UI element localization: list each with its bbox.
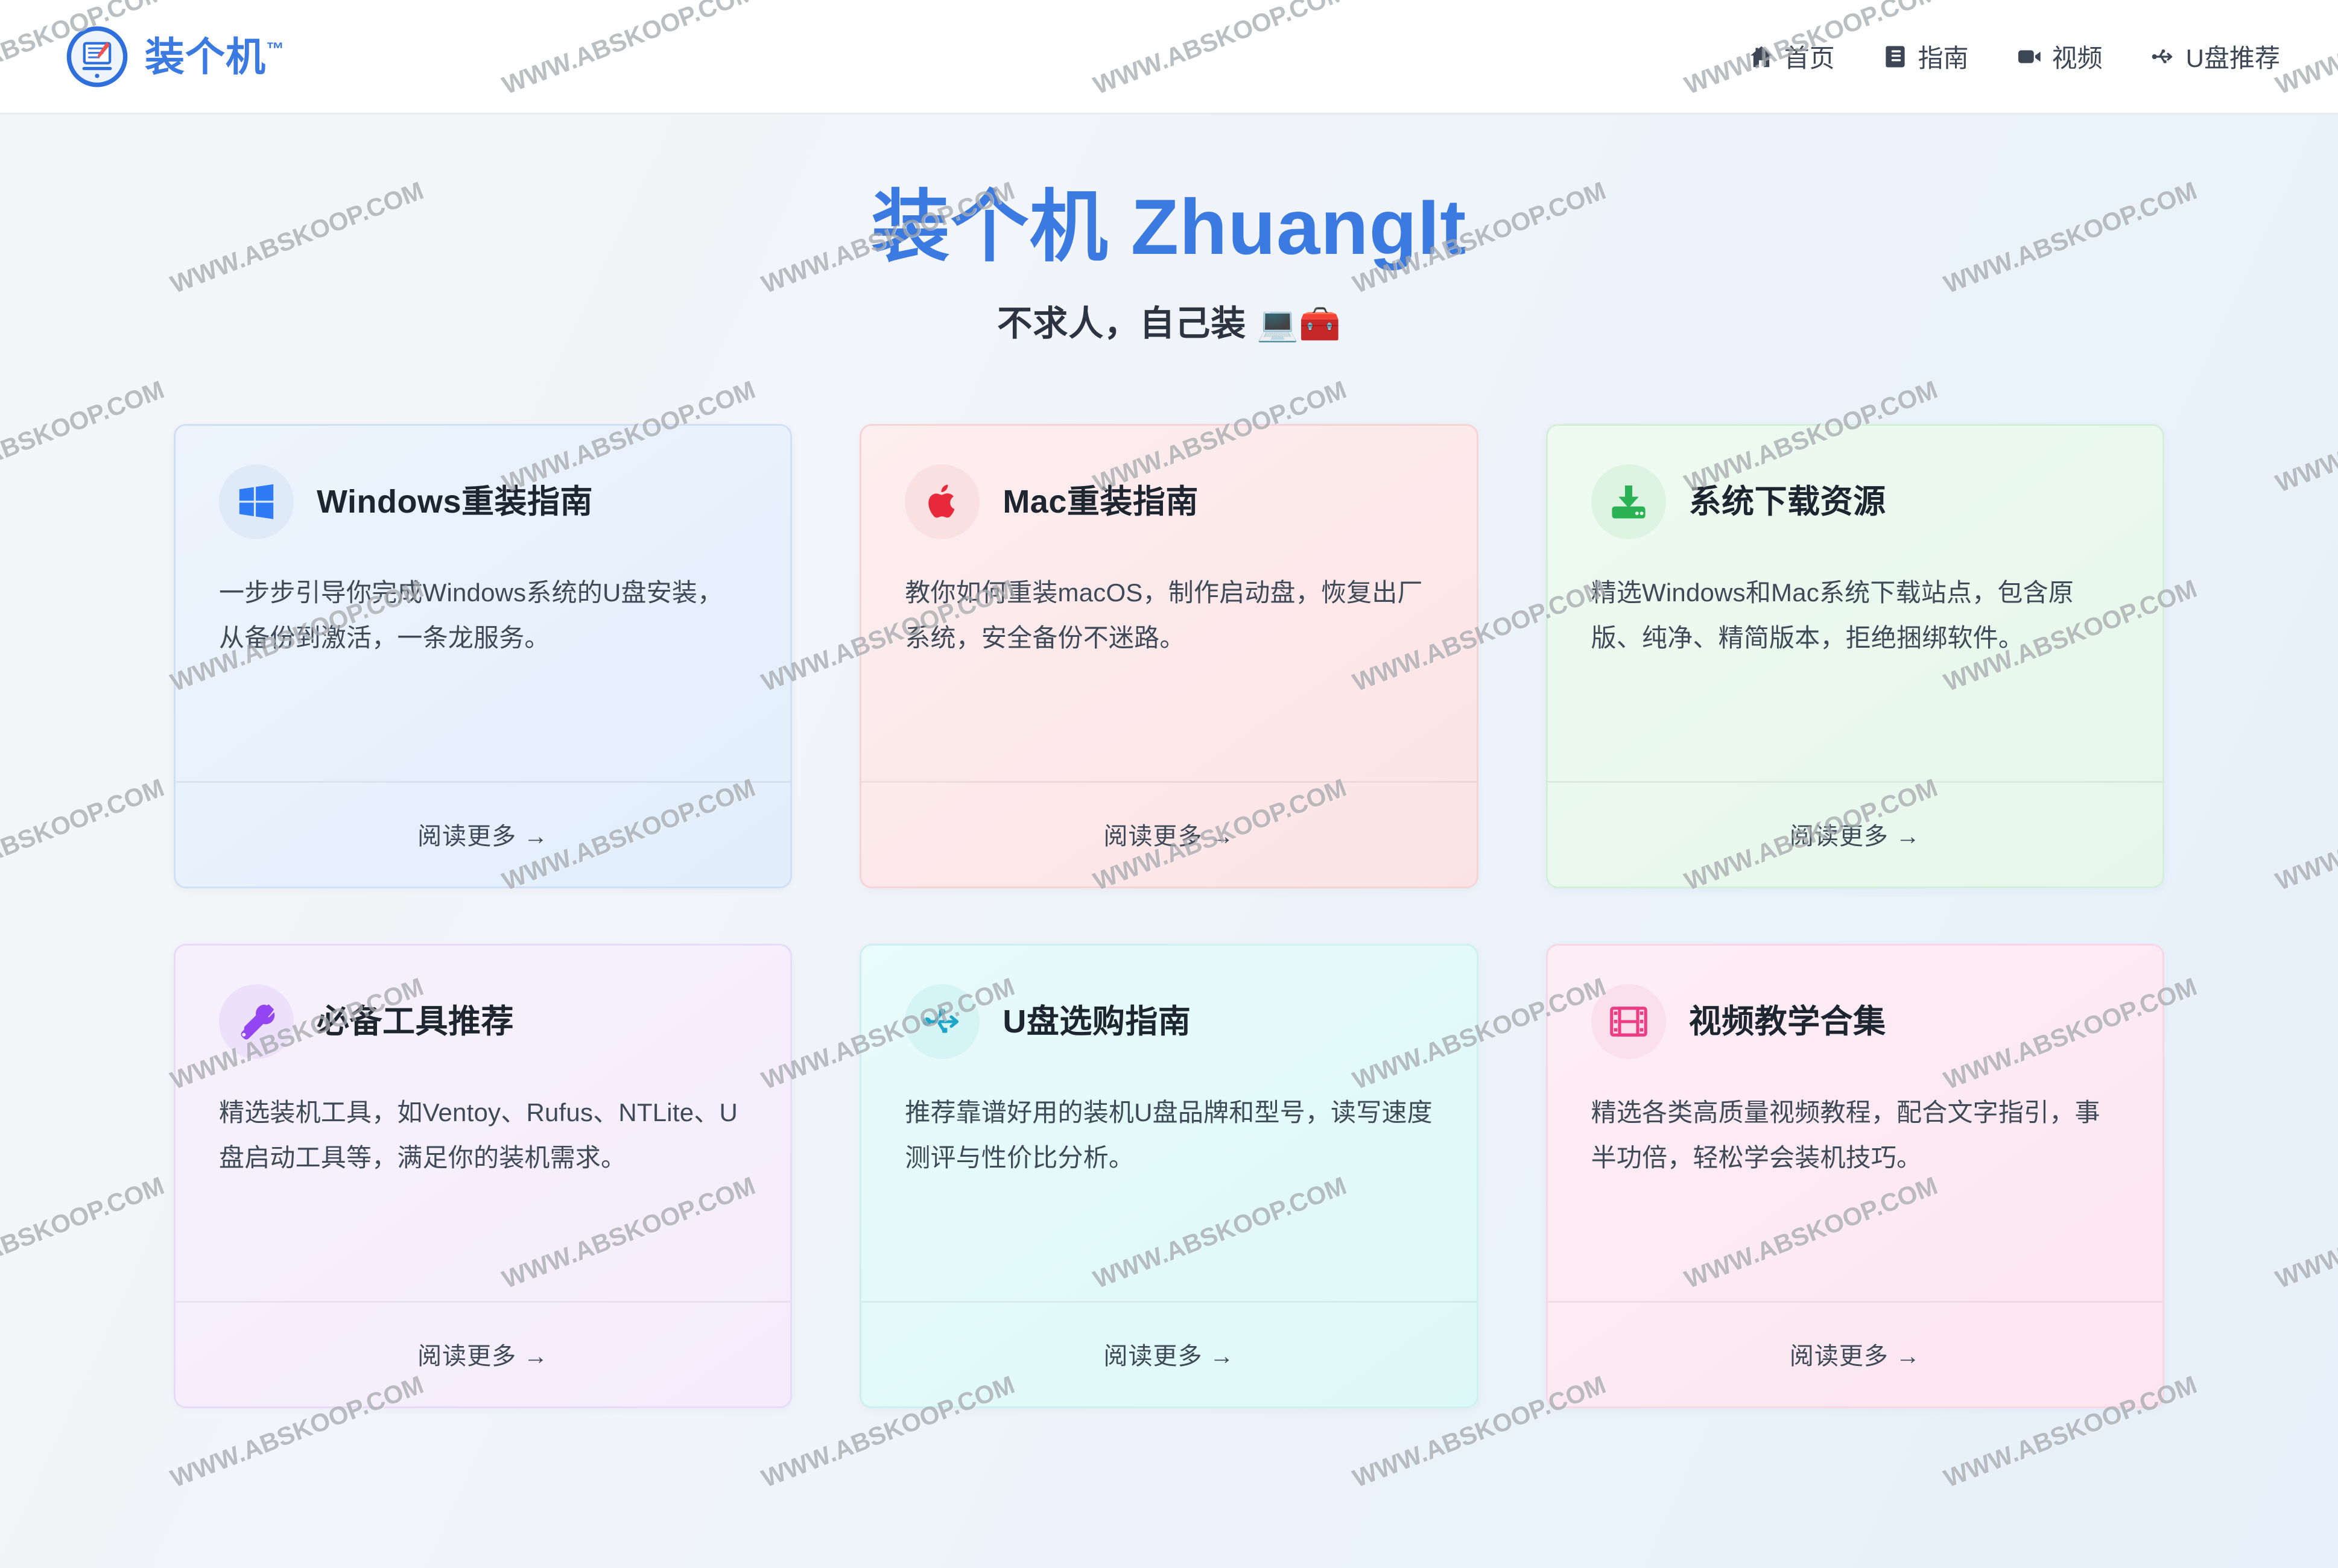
card-description: 精选装机工具，如Ventoy、Rufus、NTLite、U盘启动工具等，满足你的… — [219, 1090, 747, 1181]
card-description: 精选各类高质量视频教程，配合文字指引，事半功倍，轻松学会装机技巧。 — [1591, 1090, 2119, 1181]
apple-logo-icon — [905, 464, 980, 539]
card-video-tutorials[interactable]: 视频教学合集 精选各类高质量视频教程，配合文字指引，事半功倍，轻松学会装机技巧。… — [1546, 944, 2164, 1408]
read-more-label: 阅读更多 — [1103, 823, 1202, 850]
card-system-downloads[interactable]: 系统下载资源 精选Windows和Mac系统下载站点，包含原版、纯净、精简版本，… — [1546, 424, 2164, 888]
arrow-right-icon: → — [1209, 823, 1234, 850]
windows-logo-icon — [219, 464, 294, 539]
site-header: 装个机™ 首页 指南 — [0, 0, 2338, 115]
video-camera-icon — [2016, 43, 2042, 70]
nav-item-video-label: 视频 — [2052, 38, 2103, 75]
watermark-text: WWW.ABSKOOP.COM — [2272, 375, 2338, 498]
card-title: 系统下载资源 — [1689, 482, 1886, 522]
card-title: 视频教学合集 — [1689, 1002, 1886, 1042]
nav-item-home[interactable]: 首页 — [1748, 38, 1835, 75]
arrow-right-icon: → — [524, 823, 548, 850]
brand-name: 装个机 — [145, 37, 266, 77]
arrow-right-icon: → — [524, 1343, 548, 1370]
topic-card-grid: Windows重装指南 一步步引导你完成Windows系统的U盘安装，从备份到激… — [174, 424, 2164, 1408]
hero-section: 装个机 ZhuangIt 不求人，自己装 💻🧰 — [0, 115, 2338, 346]
read-more-label: 阅读更多 — [1103, 1343, 1202, 1370]
card-body: 系统下载资源 精选Windows和Mac系统下载站点，包含原版、纯净、精简版本，… — [1548, 426, 2162, 781]
watermark-text: WWW.ABSKOOP.COM — [2272, 773, 2338, 896]
nav-item-guide-label: 指南 — [1918, 38, 1969, 75]
card-essential-tools[interactable]: 必备工具推荐 精选装机工具，如Ventoy、Rufus、NTLite、U盘启动工… — [174, 944, 792, 1408]
arrow-right-icon: → — [1209, 1343, 1234, 1370]
card-header: 必备工具推荐 — [219, 984, 747, 1059]
nav-item-usb-recommend-label: U盘推荐 — [2186, 38, 2280, 75]
hero-subtitle: 不求人，自己装 💻🧰 — [0, 295, 2338, 346]
card-mac-guide[interactable]: Mac重装指南 教你如何重装macOS，制作启动盘，恢复出厂系统，安全备份不迷路… — [860, 424, 1478, 888]
laptop-toolbox-emoji: 💻🧰 — [1256, 305, 1340, 343]
card-header: Mac重装指南 — [905, 464, 1433, 539]
card-header: U盘选购指南 — [905, 984, 1433, 1059]
nav-item-usb-recommend[interactable]: U盘推荐 — [2150, 38, 2280, 75]
watermark-text: WWW.ABSKOOP.COM — [2272, 1171, 2338, 1294]
film-icon — [1591, 984, 1666, 1059]
monitor-pen-circle-logo-icon — [65, 25, 129, 89]
nav-item-home-label: 首页 — [1784, 38, 1835, 75]
arrow-right-icon: → — [1896, 823, 1921, 850]
card-body: 视频教学合集 精选各类高质量视频教程，配合文字指引，事半功倍，轻松学会装机技巧。 — [1548, 946, 2162, 1301]
card-header: 视频教学合集 — [1591, 984, 2119, 1059]
watermark-text: WWW.ABSKOOP.COM — [0, 375, 168, 498]
read-more-button[interactable]: 阅读更多→ — [1548, 781, 2162, 887]
arrow-right-icon: → — [1896, 1343, 1921, 1370]
card-header: 系统下载资源 — [1591, 464, 2119, 539]
book-icon — [1882, 43, 1909, 70]
nav-item-guide[interactable]: 指南 — [1882, 38, 1969, 75]
watermark-text: WWW.ABSKOOP.COM — [0, 1171, 168, 1294]
card-title: Windows重装指南 — [317, 482, 593, 522]
card-body: U盘选购指南 推荐靠谱好用的装机U盘品牌和型号，读写速度测评与性价比分析。 — [861, 946, 1476, 1301]
card-description: 精选Windows和Mac系统下载站点，包含原版、纯净、精简版本，拒绝捆绑软件。 — [1591, 571, 2119, 661]
page-title: 装个机 ZhuangIt — [0, 181, 2338, 273]
read-more-button[interactable]: 阅读更多→ — [176, 781, 790, 887]
card-usb-buying-guide[interactable]: U盘选购指南 推荐靠谱好用的装机U盘品牌和型号，读写速度测评与性价比分析。 阅读… — [860, 944, 1478, 1408]
main-navigation: 首页 指南 视频 — [1748, 38, 2280, 75]
read-more-button[interactable]: 阅读更多→ — [176, 1301, 790, 1406]
read-more-button[interactable]: 阅读更多→ — [861, 1301, 1476, 1406]
watermark-text: WWW.ABSKOOP.COM — [0, 773, 168, 896]
card-title: Mac重装指南 — [1003, 482, 1199, 522]
hero-subtitle-text: 不求人，自己装 — [997, 304, 1246, 343]
usb-icon — [2150, 43, 2176, 70]
card-windows-guide[interactable]: Windows重装指南 一步步引导你完成Windows系统的U盘安装，从备份到激… — [174, 424, 792, 888]
card-body: Mac重装指南 教你如何重装macOS，制作启动盘，恢复出厂系统，安全备份不迷路… — [861, 426, 1476, 781]
card-description: 推荐靠谱好用的装机U盘品牌和型号，读写速度测评与性价比分析。 — [905, 1090, 1433, 1181]
read-more-button[interactable]: 阅读更多→ — [1548, 1301, 2162, 1406]
read-more-label: 阅读更多 — [1790, 1343, 1889, 1370]
brand-logo-link[interactable]: 装个机™ — [65, 25, 285, 89]
download-icon — [1591, 464, 1666, 539]
home-icon — [1748, 43, 1775, 70]
read-more-label: 阅读更多 — [417, 823, 516, 850]
card-body: 必备工具推荐 精选装机工具，如Ventoy、Rufus、NTLite、U盘启动工… — [176, 946, 790, 1301]
card-description: 一步步引导你完成Windows系统的U盘安装，从备份到激活，一条龙服务。 — [219, 571, 747, 661]
brand-trademark: ™ — [266, 40, 285, 58]
usb-icon — [905, 984, 980, 1059]
read-more-label: 阅读更多 — [417, 1343, 516, 1370]
read-more-button[interactable]: 阅读更多→ — [861, 781, 1476, 887]
card-header: Windows重装指南 — [219, 464, 747, 539]
card-title: 必备工具推荐 — [317, 1002, 514, 1042]
nav-item-video[interactable]: 视频 — [2016, 38, 2103, 75]
tools-icon — [219, 984, 294, 1059]
read-more-label: 阅读更多 — [1790, 823, 1889, 850]
card-body: Windows重装指南 一步步引导你完成Windows系统的U盘安装，从备份到激… — [176, 426, 790, 781]
card-title: U盘选购指南 — [1003, 1002, 1191, 1042]
card-description: 教你如何重装macOS，制作启动盘，恢复出厂系统，安全备份不迷路。 — [905, 571, 1433, 661]
